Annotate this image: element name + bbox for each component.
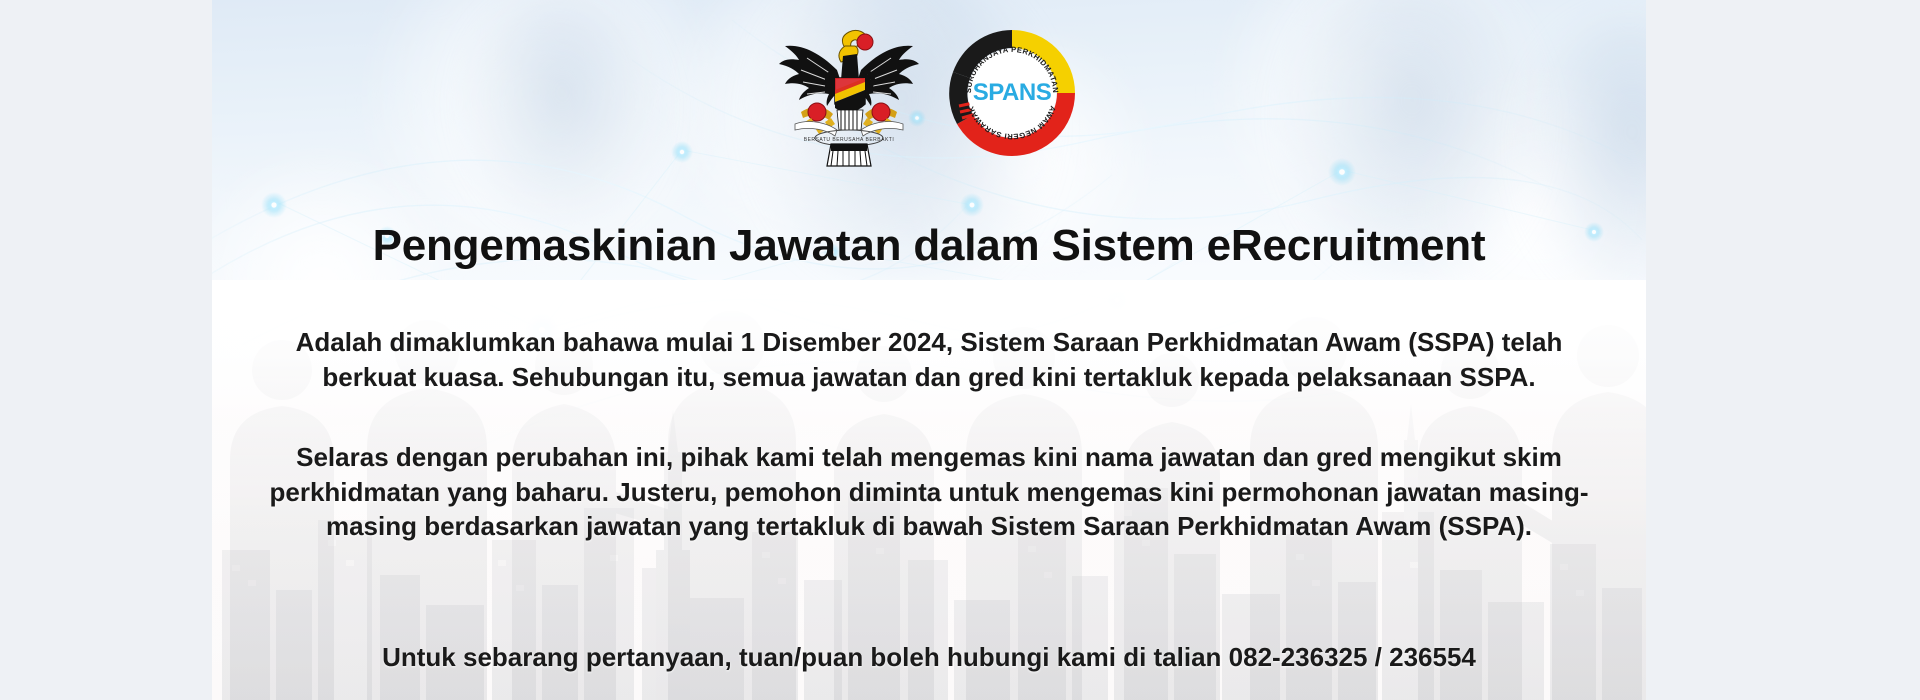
spans-logo-icon: SURUHANJAYA PERKHIDMATAN AWAM NEGERI SAR… — [945, 26, 1079, 160]
banner-content: BERSATU BERUSAHA BERBAKTI — [212, 0, 1646, 700]
contact-line: Untuk sebarang pertanyaan, tuan/puan bol… — [229, 640, 1629, 675]
announcement-banner: BERSATU BERUSAHA BERBAKTI — [212, 0, 1646, 700]
logo-row: BERSATU BERUSAHA BERBAKTI — [212, 18, 1646, 168]
page-title: Pengemaskinian Jawatan dalam Sistem eRec… — [212, 222, 1646, 270]
svg-text:BERSATU BERUSAHA BERBAKTI: BERSATU BERUSAHA BERBAKTI — [804, 137, 894, 143]
sarawak-coat-of-arms-icon: BERSATU BERUSAHA BERBAKTI — [779, 18, 919, 168]
notice-paragraph-1: Adalah dimaklumkan bahawa mulai 1 Disemb… — [279, 325, 1579, 394]
svg-text:SPANS: SPANS — [973, 79, 1052, 106]
page-root: BERSATU BERUSAHA BERBAKTI — [0, 0, 1920, 700]
notice-paragraph-2: Selaras dengan perubahan ini, pihak kami… — [229, 440, 1629, 544]
